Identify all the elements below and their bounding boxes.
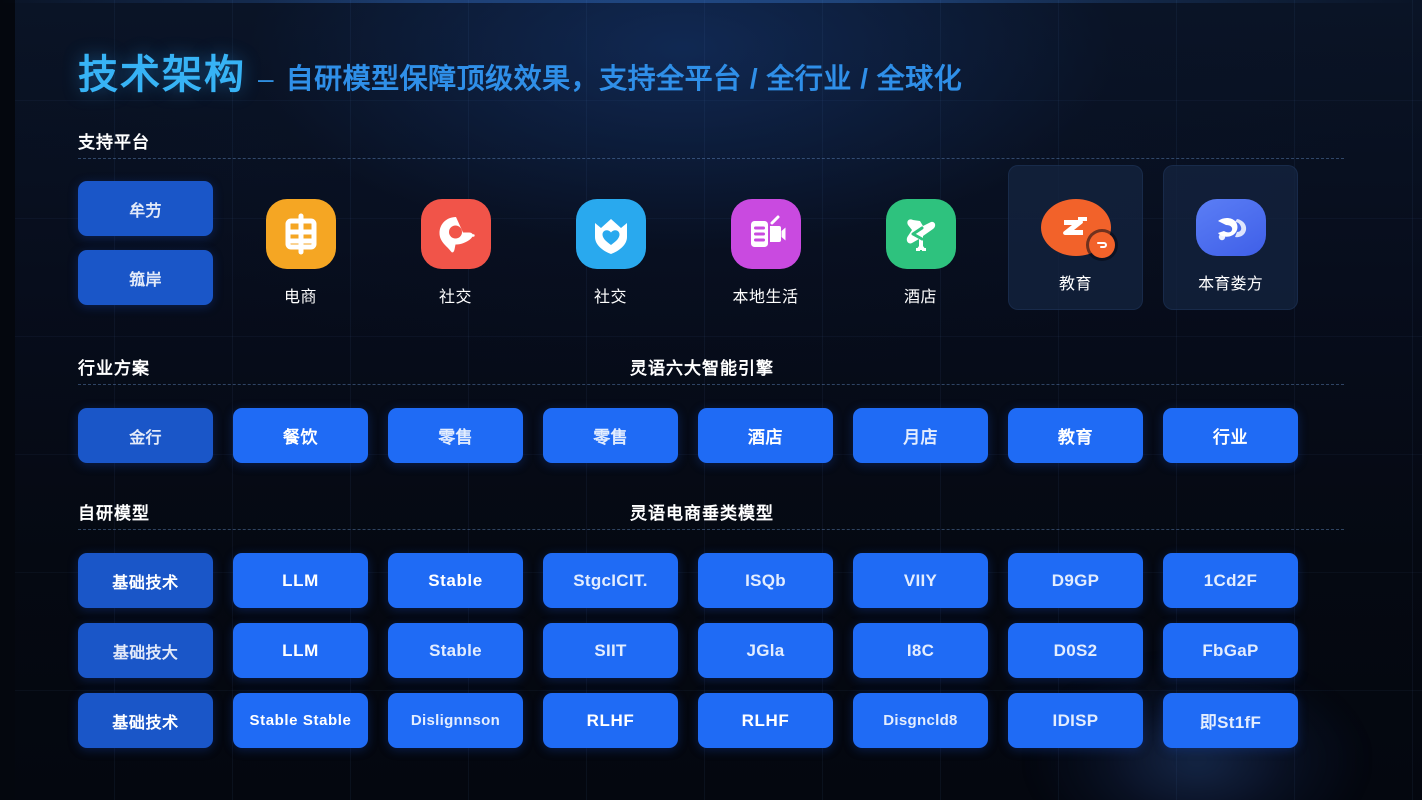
platform-cell-pills: 牟芀 箛岸 [78, 181, 213, 305]
industry-pill-catering[interactable]: 餐饮 [233, 408, 368, 463]
model-pill-r2c6[interactable]: I8C [853, 623, 988, 678]
model-pill-r2c7[interactable]: D0S2 [1008, 623, 1143, 678]
model-cell: IDISP [1008, 693, 1143, 748]
model-cell: RLHF [543, 693, 678, 748]
page-header: 技术架构 – 自研模型保障顶级效果，支持全平台 / 全行业 / 全球化 [78, 42, 962, 100]
model-pill-r2c1[interactable]: 基础技大 [78, 623, 213, 678]
platform-cell-local-life[interactable]: 本地生活 [698, 181, 833, 307]
industry-row-1: 金行 餐饮 零售 零售 酒店 月店 教育 行业 [78, 408, 1298, 463]
industry-pill-retail-2[interactable]: 零售 [543, 408, 678, 463]
model-cell: ISQb [698, 553, 833, 608]
model-pill-r2c2[interactable]: LLM [233, 623, 368, 678]
model-pill-r3c4[interactable]: RLHF [543, 693, 678, 748]
models-row-2: 基础技大 LLM Stable SIIT JGla I8C D0S2 FbGaP [78, 623, 1298, 678]
platform-label-education: 教育 [1059, 270, 1092, 294]
industry-cell: 酒店 [698, 408, 833, 463]
industry-pill-education[interactable]: 教育 [1008, 408, 1143, 463]
education-badge-icon [1089, 232, 1115, 258]
model-pill-r3c8[interactable]: 即St1fF [1163, 693, 1298, 748]
section-industry-divider [78, 384, 1344, 385]
model-pill-r3c1[interactable]: 基础技术 [78, 693, 213, 748]
slide-stage: 技术架构 – 自研模型保障顶级效果，支持全平台 / 全行业 / 全球化 支持平台… [0, 0, 1422, 800]
gift-house-icon [886, 199, 956, 269]
platform-pill-2[interactable]: 箛岸 [78, 250, 213, 305]
page-title: 技术架构 [78, 42, 246, 100]
platform-cell-hotel[interactable]: 酒店 [853, 181, 988, 307]
section-platforms-divider [78, 158, 1344, 159]
model-cell: VIIY [853, 553, 988, 608]
model-pill-r3c7[interactable]: IDISP [1008, 693, 1143, 748]
model-pill-r2c5[interactable]: JGla [698, 623, 833, 678]
industry-pill-hotel[interactable]: 酒店 [698, 408, 833, 463]
platform-icon-row: 牟芀 箛岸 电商 [78, 181, 1298, 310]
models-row-1: 基础技术 LLM Stable StgcICIT. ISQb VIIY D9GP… [78, 553, 1298, 608]
industry-cell: 零售 [543, 408, 678, 463]
model-pill-r3c3[interactable]: Dislignnson [388, 693, 523, 748]
model-cell: 即St1fF [1163, 693, 1298, 748]
model-cell: 1Cd2F [1163, 553, 1298, 608]
model-cell: RLHF [698, 693, 833, 748]
model-cell: D9GP [1008, 553, 1143, 608]
page-subtitle: 自研模型保障顶级效果，支持全平台 / 全行业 / 全球化 [286, 57, 963, 97]
platform-label-local-life: 本地生活 [732, 283, 798, 307]
chat-bubble-icon [1041, 199, 1111, 256]
industry-pill-finance[interactable]: 金行 [78, 408, 213, 463]
industry-cell: 行业 [1163, 408, 1298, 463]
section-industry-title: 行业方案 [78, 354, 150, 379]
section-industry: 行业方案 灵语六大智能引擎 [0, 354, 1422, 388]
model-pill-r1c1[interactable]: 基础技术 [78, 553, 213, 608]
section-platforms-header: 支持平台 [0, 128, 1422, 162]
model-pill-r1c7[interactable]: D9GP [1008, 553, 1143, 608]
platform-cell-social-blue[interactable]: 社交 [543, 181, 678, 307]
model-pill-r1c3[interactable]: Stable [388, 553, 523, 608]
model-pill-r1c5[interactable]: ISQb [698, 553, 833, 608]
section-platforms: 支持平台 [0, 128, 1422, 162]
model-pill-r3c2[interactable]: Stable Stable [233, 693, 368, 748]
platform-cell-education[interactable]: 教育 [1008, 165, 1143, 310]
model-pill-r3c6[interactable]: Disgncld8 [853, 693, 988, 748]
model-cell: Stable [388, 623, 523, 678]
industry-cell: 金行 [78, 408, 213, 463]
industry-pill-industry[interactable]: 行业 [1163, 408, 1298, 463]
section-models-title: 自研模型 [78, 499, 150, 524]
model-cell: Stable [388, 553, 523, 608]
model-cell: 基础技大 [78, 623, 213, 678]
section-industry-header: 行业方案 灵语六大智能引擎 [0, 354, 1422, 388]
model-cell: Dislignnson [388, 693, 523, 748]
shield-heart-icon [576, 199, 646, 269]
industry-cell: 月店 [853, 408, 988, 463]
section-models-header: 自研模型 灵语电商垂类模型 [0, 499, 1422, 533]
model-cell: JGla [698, 623, 833, 678]
model-cell: D0S2 [1008, 623, 1143, 678]
industry-cell: 餐饮 [233, 408, 368, 463]
platform-label-social-red: 社交 [439, 283, 472, 307]
section-models-title-vertical: 灵语电商垂类模型 [630, 499, 774, 524]
model-pill-r1c8[interactable]: 1Cd2F [1163, 553, 1298, 608]
model-pill-r2c3[interactable]: Stable [388, 623, 523, 678]
model-cell: SIIT [543, 623, 678, 678]
model-pill-r2c8[interactable]: FbGaP [1163, 623, 1298, 678]
model-pill-r1c4[interactable]: StgcICIT. [543, 553, 678, 608]
section-models: 自研模型 灵语电商垂类模型 [0, 499, 1422, 533]
industry-pill-store[interactable]: 月店 [853, 408, 988, 463]
video-card-icon [731, 199, 801, 269]
section-industry-title-engines: 灵语六大智能引擎 [630, 354, 774, 379]
platform-pill-1[interactable]: 牟芀 [78, 181, 213, 236]
model-pill-r1c2[interactable]: LLM [233, 553, 368, 608]
model-cell: FbGaP [1163, 623, 1298, 678]
model-cell: I8C [853, 623, 988, 678]
model-pill-r2c4[interactable]: SIIT [543, 623, 678, 678]
model-cell: LLM [233, 623, 368, 678]
model-cell: 基础技术 [78, 553, 213, 608]
title-dash: – [258, 63, 274, 95]
section-models-divider [78, 529, 1344, 530]
industry-cell: 教育 [1008, 408, 1143, 463]
model-cell: StgcICIT. [543, 553, 678, 608]
platform-label-social-blue: 社交 [594, 283, 627, 307]
dianshang-icon [266, 199, 336, 269]
swoosh-icon [1196, 199, 1266, 256]
section-platforms-title: 支持平台 [78, 128, 150, 153]
pin-eye-icon [421, 199, 491, 269]
industry-cell: 零售 [388, 408, 523, 463]
platform-label-sports: 本育娄方 [1198, 270, 1263, 294]
model-pill-r3c5[interactable]: RLHF [698, 693, 833, 748]
platform-label-ecommerce: 电商 [284, 283, 317, 307]
model-cell: Disgncld8 [853, 693, 988, 748]
platform-cell-social-red[interactable]: 社交 [388, 181, 523, 307]
platform-cell-sports[interactable]: 本育娄方 [1163, 165, 1298, 310]
model-cell: LLM [233, 553, 368, 608]
platform-cell-ecommerce[interactable]: 电商 [233, 181, 368, 307]
models-row-3: 基础技术 Stable Stable Dislignnson RLHF RLHF… [78, 693, 1298, 748]
platform-label-hotel: 酒店 [904, 283, 937, 307]
model-pill-r1c6[interactable]: VIIY [853, 553, 988, 608]
industry-pill-retail-1[interactable]: 零售 [388, 408, 523, 463]
model-cell: 基础技术 [78, 693, 213, 748]
model-cell: Stable Stable [233, 693, 368, 748]
